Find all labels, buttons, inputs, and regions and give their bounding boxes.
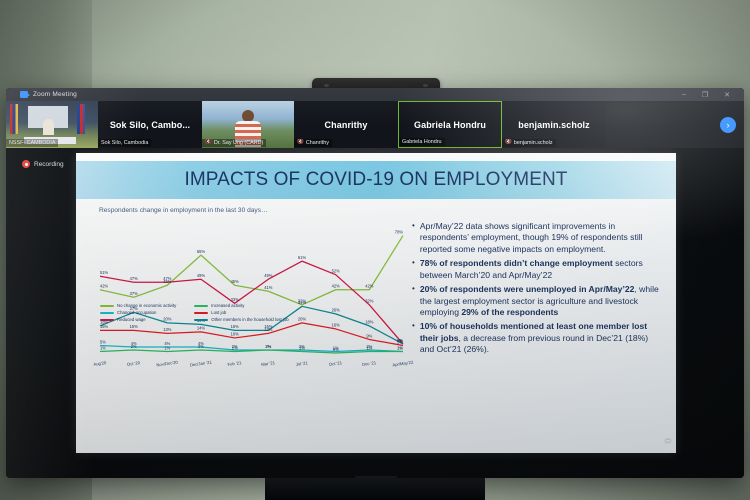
- bullet-marker-icon: •: [412, 258, 415, 281]
- legend-swatch: [194, 312, 208, 314]
- chart-data-label: 49%: [264, 273, 273, 278]
- chart-data-label: 45%: [231, 279, 240, 284]
- flag-decoration-left: [10, 104, 18, 134]
- chart-data-label: 9%: [366, 333, 372, 338]
- close-button[interactable]: ✕: [724, 91, 730, 99]
- legend-label: Changed occupation: [117, 310, 156, 315]
- bullet-item: •Apr/May’22 data shows significant impro…: [412, 221, 664, 255]
- camera-lens-right: [423, 84, 428, 87]
- chart-series-group: [100, 236, 403, 353]
- legend-swatch: [100, 305, 114, 307]
- legend-item: Lost job: [194, 310, 288, 315]
- bullet-item: •10% of households mentioned at least on…: [412, 321, 664, 355]
- chart-data-label: 47%: [163, 276, 172, 281]
- room-scene: Zoom Meeting – ❐ ✕ NSSF- CAMBODIA: [0, 0, 750, 500]
- chart-data-label: 1%: [164, 345, 170, 350]
- zoom-titlebar: Zoom Meeting – ❐ ✕: [6, 88, 744, 101]
- chart-data-label: 37%: [130, 291, 139, 296]
- participant-tile[interactable]: benjamin.scholz 🔇 benjamin.scholz: [502, 101, 606, 148]
- chart-data-label: 65%: [197, 249, 206, 254]
- legend-item: No change in economic activity: [100, 303, 176, 308]
- chart-data-label: 0%: [333, 347, 339, 352]
- chart-data-label: 13%: [264, 327, 273, 332]
- participant-name-text: Sok Silo, Cambodia: [101, 140, 148, 146]
- recording-label: Recording: [34, 161, 64, 168]
- recording-indicator[interactable]: Recording: [22, 160, 64, 168]
- legend-label: Reduced wage: [117, 317, 146, 322]
- legend-item: Changed occupation: [100, 310, 176, 315]
- chart-data-label: 10%: [231, 332, 240, 337]
- zoom-logo-icon: [20, 91, 28, 98]
- chart-data-label: 5%: [397, 339, 403, 344]
- camera-lens-left: [324, 84, 329, 87]
- legend-swatch: [100, 312, 114, 314]
- minimize-button[interactable]: –: [682, 91, 686, 99]
- legend-label: Lost job: [211, 310, 226, 315]
- participant-tile[interactable]: NSSF- CAMBODIA: [6, 101, 98, 148]
- chart-data-label: 51%: [100, 270, 109, 275]
- legend-column-right: Increased activityLost jobOther members …: [194, 303, 288, 322]
- legend-label: Increased activity: [211, 303, 244, 308]
- chart-data-label: 13%: [163, 327, 172, 332]
- bullet-marker-icon: •: [412, 221, 415, 255]
- chart-data-label: 1%: [299, 345, 305, 350]
- bullet-text-emphasis: 29% of the respondents: [461, 307, 558, 317]
- chart-x-tick-label: Jul '21: [296, 360, 309, 367]
- chart-data-label: 14%: [197, 326, 206, 331]
- bullet-text: 10% of households mentioned at least one…: [420, 321, 664, 355]
- participant-name-text: Chanrithy: [306, 140, 329, 146]
- monitor-screen: Zoom Meeting – ❐ ✕ NSSF- CAMBODIA: [6, 88, 744, 478]
- chart-data-label: 42%: [365, 284, 374, 289]
- chart-data-label: 2%: [131, 344, 137, 349]
- legend-label: Other members in the household lost job: [211, 317, 288, 322]
- chart-data-label: 41%: [264, 285, 273, 290]
- chart-data-label: 33%: [231, 297, 240, 302]
- participant-name-text: NSSF- CAMBODIA: [9, 140, 55, 146]
- page-title: IMPACTS OF COVID-19 ON EMPLOYMENT: [185, 169, 568, 191]
- chart-x-axis-ticks: Aug'20Oct '20Nov/Dec'20Dec/Jan '21Feb '2…: [93, 359, 414, 367]
- microphone-muted-icon: 🔇: [297, 140, 304, 146]
- recording-icon: [22, 160, 30, 168]
- person-silhouette: [43, 119, 54, 135]
- participant-name-text: Gabriela Hondru: [402, 139, 442, 145]
- participant-name-label: Sok Silo, Cambodia: [98, 139, 151, 147]
- legend-item: Other members in the household lost job: [194, 317, 288, 322]
- participant-name-label: 🔇 benjamin.scholz: [502, 139, 556, 147]
- chart-data-label: 2%: [198, 344, 204, 349]
- participant-name-label: 🔇 Dr. Say Ung (CARD): [202, 139, 266, 147]
- bullet-item: •20% of respondents were unemployed in A…: [412, 284, 664, 318]
- legend-swatch: [194, 319, 208, 321]
- participant-name-label: NSSF- CAMBODIA: [6, 139, 58, 147]
- chart-data-label: 1%: [232, 345, 238, 350]
- chart-x-tick-label: Mar '21: [261, 360, 276, 367]
- bullet-text: Apr/May’22 data shows significant improv…: [420, 221, 664, 255]
- legend-item: Reduced wage: [100, 317, 176, 322]
- chart-data-label: 61%: [298, 255, 307, 260]
- legend-swatch: [194, 305, 208, 307]
- window-controls: – ❐ ✕: [682, 91, 744, 99]
- legend-label: No change in economic activity: [117, 303, 176, 308]
- participant-tile[interactable]: Sok Silo, Cambo... Sok Silo, Cambodia: [98, 101, 202, 148]
- chart-data-label: 15%: [231, 324, 240, 329]
- chart-canvas: 42%37%45%65%45%41%32%42%42%78%51%47%47%4…: [90, 219, 415, 369]
- bullet-text-segment: Apr/May’22 data shows significant improv…: [420, 221, 643, 254]
- chart-x-tick-label: Nov/Dec'20: [156, 359, 179, 367]
- bullet-text: 78% of respondents didn’t change employm…: [420, 258, 664, 281]
- chart-data-label: 47%: [130, 276, 139, 281]
- bullet-marker-icon: •: [412, 321, 415, 355]
- chart-data-label: 1%: [397, 345, 403, 350]
- shared-slide: IMPACTS OF COVID-19 ON EMPLOYMENT Respon…: [76, 153, 676, 453]
- microphone-muted-icon: 🔇: [205, 140, 212, 146]
- legend-swatch: [100, 319, 114, 321]
- restore-button[interactable]: ❐: [702, 91, 708, 99]
- legend-column-left: No change in economic activityChanged oc…: [100, 303, 176, 322]
- bullet-item: •78% of respondents didn’t change employ…: [412, 258, 664, 281]
- chart-data-label: 1%: [366, 345, 372, 350]
- chart-data-label: 16%: [332, 323, 341, 328]
- next-page-arrow-icon[interactable]: ›: [720, 117, 736, 133]
- chart-subtitle: Respondents change in employment in the …: [99, 207, 268, 214]
- chart-data-label: 15%: [100, 324, 109, 329]
- chart-x-tick-label: Aug'20: [93, 360, 107, 367]
- chart-line: [100, 323, 403, 346]
- chart-data-label: 15%: [130, 324, 139, 329]
- participant-name-text: Dr. Say Ung (CARD): [214, 140, 263, 146]
- participant-tile-active-speaker[interactable]: Gabriela Hondru Gabriela Hondru: [398, 101, 502, 148]
- bullet-text-emphasis: 20% of respondents were unemployed in Ap…: [420, 284, 635, 294]
- bullet-text-emphasis: 78% of respondents didn’t change employm…: [420, 258, 613, 268]
- chart-legend: No change in economic activityChanged oc…: [100, 303, 400, 322]
- chart-data-label: 2%: [265, 344, 271, 349]
- flag-decoration-right: [77, 104, 85, 134]
- slide-bullet-list: •Apr/May’22 data shows significant impro…: [412, 221, 664, 359]
- participant-tile[interactable]: Chanrithy 🔇 Chanrithy: [294, 101, 398, 148]
- chart-x-tick-label: Oct '20: [127, 360, 141, 367]
- chart-x-tick-label: Dec '21: [362, 360, 377, 367]
- microphone-muted-icon: 🔇: [505, 140, 512, 146]
- participant-name-text: benjamin.scholz: [514, 140, 553, 146]
- chart-data-label: 78%: [395, 229, 404, 234]
- slide-title-banner: IMPACTS OF COVID-19 ON EMPLOYMENT: [76, 161, 676, 199]
- chart-x-tick-label: Feb '21: [227, 360, 242, 367]
- chart-x-tick-label: Apr/May'22: [392, 359, 414, 367]
- chart-data-label: 42%: [332, 284, 341, 289]
- bullet-text: 20% of respondents were unemployed in Ap…: [420, 284, 664, 318]
- participant-tile[interactable]: 🔇 Dr. Say Ung (CARD): [202, 101, 294, 148]
- window-title: Zoom Meeting: [33, 91, 77, 98]
- participant-filmstrip[interactable]: NSSF- CAMBODIA Sok Silo, Cambo... Sok Si…: [6, 101, 744, 148]
- bullet-marker-icon: •: [412, 284, 415, 318]
- chart-data-label: 49%: [197, 273, 206, 278]
- chart-data-label: 1%: [100, 345, 106, 350]
- chart-data-label: 52%: [332, 268, 341, 273]
- participant-name-label: 🔇 Chanrithy: [294, 139, 332, 147]
- monitor-stand-base: [265, 478, 485, 500]
- participant-name-label: Gabriela Hondru: [399, 138, 445, 146]
- legend-item: Increased activity: [194, 303, 288, 308]
- chart-x-tick-label: Dec/Jan '21: [190, 359, 213, 367]
- chart-data-label: 5%: [100, 339, 106, 344]
- chart-data-label: 42%: [100, 284, 109, 289]
- chart-x-tick-label: Oct '21: [329, 360, 343, 367]
